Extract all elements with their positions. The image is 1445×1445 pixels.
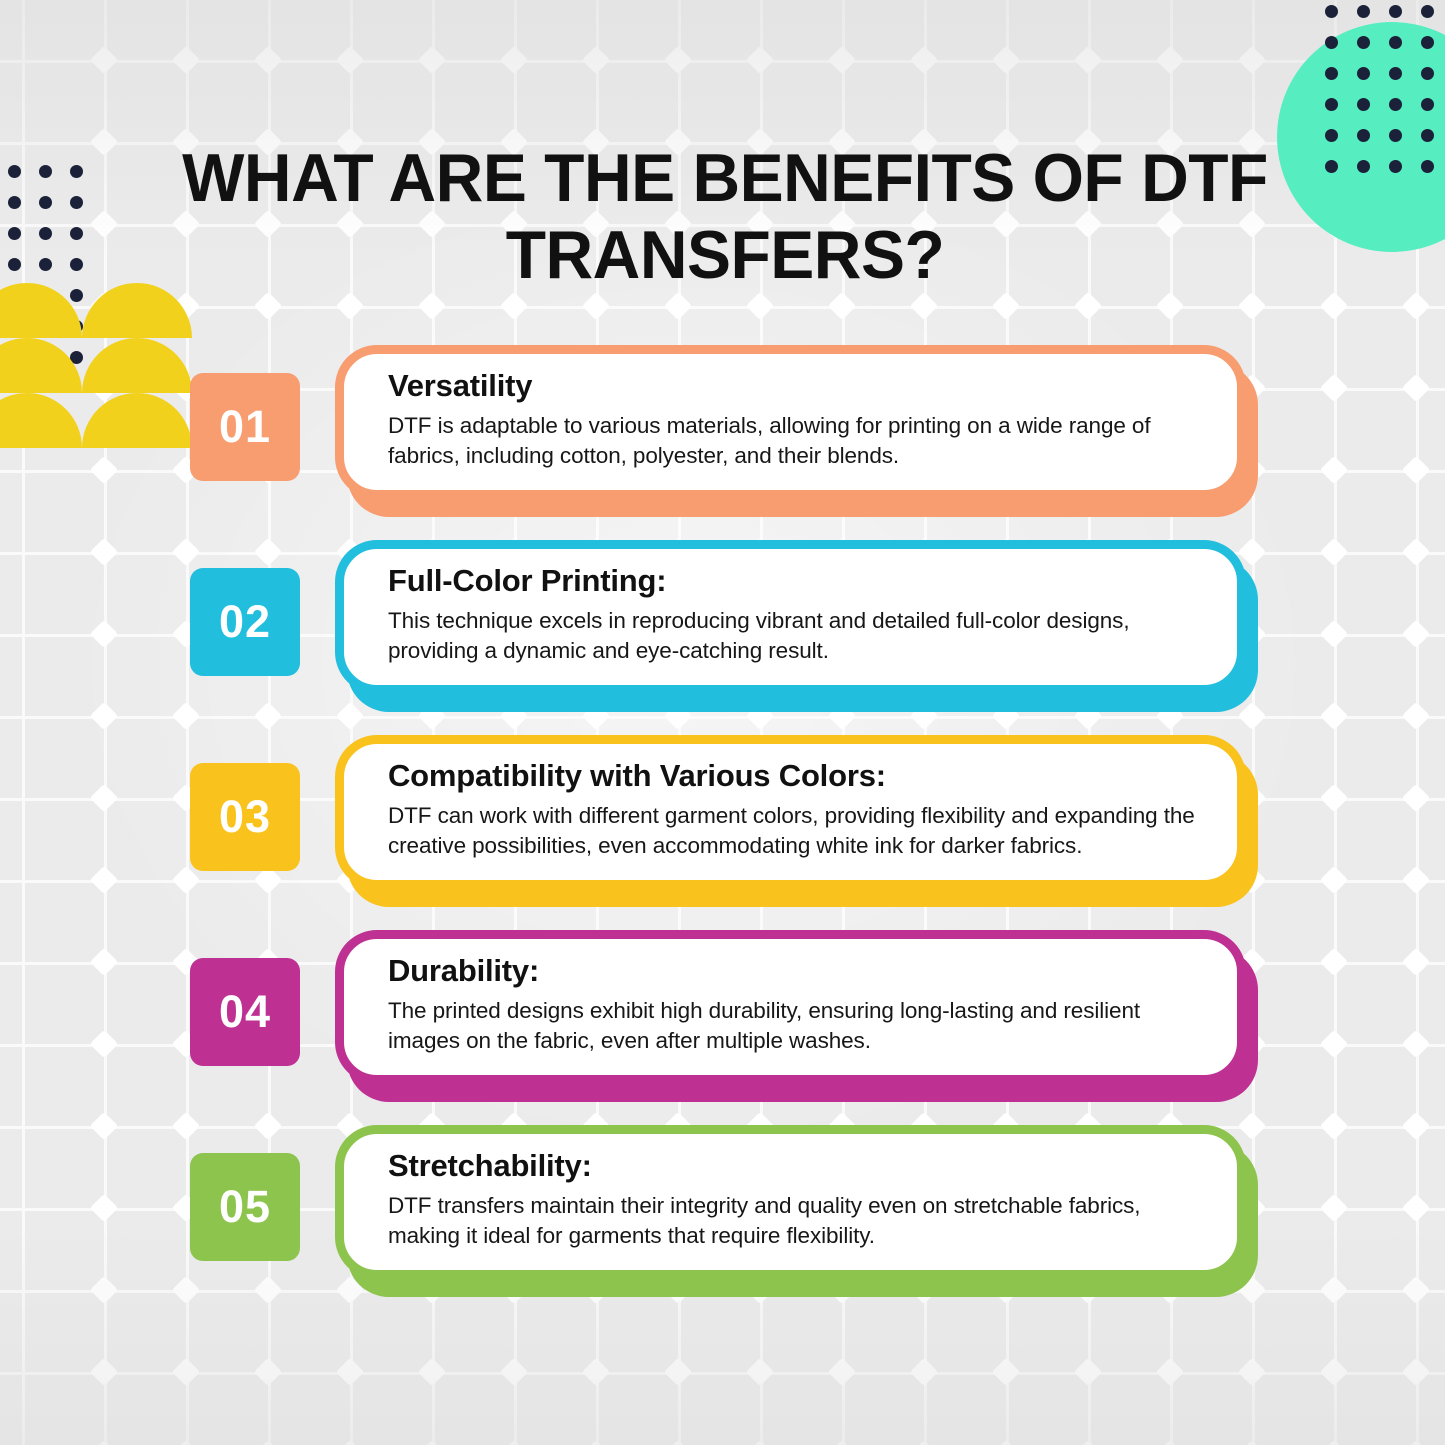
grid-node-diamond (1156, 46, 1184, 74)
grid-node-diamond (746, 1358, 774, 1386)
grid-node-diamond (1156, 1358, 1184, 1386)
grid-node-diamond (418, 1440, 446, 1445)
benefit-card: VersatilityDTF is adaptable to various m… (335, 345, 1260, 517)
benefit-row: 03Compatibility with Various Colors:DTF … (0, 725, 1445, 920)
decorative-dot (39, 165, 52, 178)
grid-node-diamond (418, 292, 446, 320)
benefit-card: Full-Color Printing:This technique excel… (335, 540, 1260, 712)
benefit-number-badge: 02 (190, 568, 300, 676)
decorative-dot (8, 227, 21, 240)
decorative-dot (1325, 5, 1338, 18)
grid-node-diamond (582, 1440, 610, 1445)
grid-node-diamond (910, 46, 938, 74)
grid-node-diamond (336, 1358, 364, 1386)
benefit-row: 01VersatilityDTF is adaptable to various… (0, 335, 1445, 530)
benefit-card-surface: VersatilityDTF is adaptable to various m… (335, 345, 1246, 499)
benefit-title: Stretchability: (388, 1148, 1207, 1184)
grid-node-diamond (910, 292, 938, 320)
benefit-row: 05Stretchability:DTF transfers maintain … (0, 1115, 1445, 1310)
grid-node-diamond (1238, 1440, 1266, 1445)
benefits-list: 01VersatilityDTF is adaptable to various… (0, 335, 1445, 1310)
decorative-dot (8, 196, 21, 209)
grid-node-diamond (582, 1358, 610, 1386)
decorative-dot (70, 165, 83, 178)
decorative-dot (1421, 67, 1434, 80)
grid-node-diamond (664, 292, 692, 320)
benefit-number-label: 05 (219, 1181, 271, 1233)
grid-node-diamond (746, 1440, 774, 1445)
grid-node-diamond (254, 1358, 282, 1386)
benefit-number-label: 01 (219, 401, 271, 453)
grid-node-diamond (1238, 292, 1266, 320)
grid-node-diamond (1156, 1440, 1184, 1445)
grid-node-diamond (828, 46, 856, 74)
decorative-dot (1389, 67, 1402, 80)
infographic-poster: WHAT ARE THE BENEFITS OF DTF TRANSFERS? … (0, 0, 1445, 1445)
grid-node-diamond (664, 1358, 692, 1386)
decorative-dot (39, 196, 52, 209)
benefit-number-label: 02 (219, 596, 271, 648)
grid-node-diamond (828, 1358, 856, 1386)
decorative-dot (1325, 129, 1338, 142)
decorative-dot (1325, 67, 1338, 80)
grid-node-diamond (828, 1440, 856, 1445)
benefit-description: DTF can work with different garment colo… (388, 801, 1207, 861)
grid-node-diamond (500, 46, 528, 74)
decorative-dot (1389, 5, 1402, 18)
grid-node-diamond (254, 46, 282, 74)
grid-node-diamond (90, 1440, 118, 1445)
decorative-dot (1357, 98, 1370, 111)
grid-node-diamond (746, 46, 774, 74)
decorative-dot (1357, 160, 1370, 173)
decorative-dot (8, 165, 21, 178)
benefit-title: Versatility (388, 368, 1207, 404)
grid-node-diamond (664, 46, 692, 74)
grid-node-diamond (500, 1440, 528, 1445)
decorative-dot (1325, 36, 1338, 49)
grid-node-diamond (418, 1358, 446, 1386)
grid-node-diamond (172, 46, 200, 74)
grid-node-diamond (1320, 1358, 1348, 1386)
benefit-title: Compatibility with Various Colors: (388, 758, 1207, 794)
grid-node-diamond (582, 292, 610, 320)
grid-node-diamond (336, 292, 364, 320)
decorative-dot (1325, 98, 1338, 111)
decorative-dot (1389, 36, 1402, 49)
decorative-dot (1421, 5, 1434, 18)
decorative-dot (1325, 160, 1338, 173)
grid-node-diamond (992, 46, 1020, 74)
grid-node-diamond (1156, 292, 1184, 320)
grid-node-diamond (910, 1440, 938, 1445)
benefit-card-surface: Full-Color Printing:This technique excel… (335, 540, 1246, 694)
grid-node-diamond (1238, 1358, 1266, 1386)
page-title: WHAT ARE THE BENEFITS OF DTF TRANSFERS? (177, 140, 1273, 294)
grid-node-diamond (254, 1440, 282, 1445)
benefit-row: 02Full-Color Printing:This technique exc… (0, 530, 1445, 725)
benefit-card-surface: Compatibility with Various Colors:DTF ca… (335, 735, 1246, 889)
benefit-row: 04Durability:The printed designs exhibit… (0, 920, 1445, 1115)
benefit-number-label: 03 (219, 791, 271, 843)
grid-node-diamond (582, 46, 610, 74)
decorative-dot (70, 227, 83, 240)
grid-node-diamond (1402, 1440, 1430, 1445)
grid-node-diamond (254, 292, 282, 320)
benefit-card-surface: Durability:The printed designs exhibit h… (335, 930, 1246, 1084)
decorative-dot (1421, 98, 1434, 111)
grid-node-diamond (992, 1440, 1020, 1445)
decorative-dot (1421, 36, 1434, 49)
grid-node-diamond (172, 1440, 200, 1445)
benefit-number-badge: 03 (190, 763, 300, 871)
grid-node-diamond (500, 292, 528, 320)
decorative-dot (1389, 98, 1402, 111)
benefit-description: This technique excels in reproducing vib… (388, 606, 1207, 666)
grid-node-diamond (1320, 1440, 1348, 1445)
grid-node-diamond (992, 292, 1020, 320)
decorative-dot (1421, 160, 1434, 173)
decorative-dot (8, 258, 21, 271)
benefit-number-badge: 05 (190, 1153, 300, 1261)
grid-node-diamond (992, 1358, 1020, 1386)
decorative-dot (39, 227, 52, 240)
benefit-title: Durability: (388, 953, 1207, 989)
benefit-description: The printed designs exhibit high durabil… (388, 996, 1207, 1056)
grid-node-diamond (1238, 46, 1266, 74)
grid-node-diamond (1074, 292, 1102, 320)
decorative-dot (1357, 5, 1370, 18)
benefit-description: DTF transfers maintain their integrity a… (388, 1191, 1207, 1251)
benefit-card: Durability:The printed designs exhibit h… (335, 930, 1260, 1102)
decorative-dot (39, 258, 52, 271)
decorative-dot (1421, 129, 1434, 142)
grid-node-diamond (90, 128, 118, 156)
decorative-dot (1357, 67, 1370, 80)
decorative-dot (1389, 129, 1402, 142)
grid-node-diamond (500, 1358, 528, 1386)
benefit-title: Full-Color Printing: (388, 563, 1207, 599)
halfmoon-shape (82, 283, 192, 338)
grid-node-diamond (1074, 1440, 1102, 1445)
grid-node-diamond (664, 1440, 692, 1445)
grid-node-diamond (1402, 1358, 1430, 1386)
benefit-description: DTF is adaptable to various materials, a… (388, 411, 1207, 471)
benefit-number-badge: 01 (190, 373, 300, 481)
benefit-number-badge: 04 (190, 958, 300, 1066)
grid-node-diamond (418, 46, 446, 74)
grid-node-diamond (336, 1440, 364, 1445)
benefit-number-label: 04 (219, 986, 271, 1038)
decorative-dot (1389, 160, 1402, 173)
grid-node-diamond (172, 1358, 200, 1386)
grid-node-diamond (90, 46, 118, 74)
decorative-dot (1357, 129, 1370, 142)
benefit-card: Compatibility with Various Colors:DTF ca… (335, 735, 1260, 907)
decorative-dot (70, 258, 83, 271)
dot-grid-top-right-decoration (1285, 0, 1445, 180)
grid-node-diamond (1074, 1358, 1102, 1386)
decorative-dot (70, 196, 83, 209)
benefit-card: Stretchability:DTF transfers maintain th… (335, 1125, 1260, 1297)
grid-node-diamond (746, 292, 774, 320)
grid-node-diamond (1402, 292, 1430, 320)
grid-node-diamond (90, 1358, 118, 1386)
grid-node-diamond (1320, 292, 1348, 320)
grid-node-diamond (910, 1358, 938, 1386)
grid-node-diamond (1074, 46, 1102, 74)
decorative-dot (1357, 36, 1370, 49)
grid-node-diamond (336, 46, 364, 74)
grid-node-diamond (828, 292, 856, 320)
benefit-card-surface: Stretchability:DTF transfers maintain th… (335, 1125, 1246, 1279)
